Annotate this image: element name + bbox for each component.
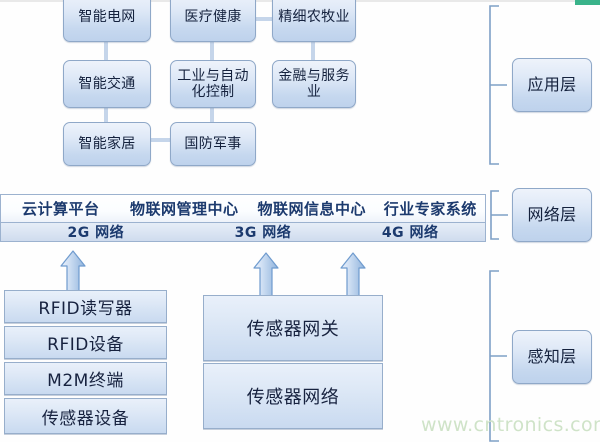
app-box-smart-grid-label: 智能电网	[66, 9, 148, 25]
perception-box-sensor-device-label: 传感器设备	[42, 404, 130, 429]
app-box-smart-home-label: 智能家居	[66, 136, 148, 152]
app-box-medical-health[interactable]: 医疗健康	[170, 0, 256, 42]
uplink-arrow-right	[340, 252, 366, 300]
layer-label-perception[interactable]: 感知层	[512, 330, 592, 384]
layer-label-application[interactable]: 应用层	[512, 58, 592, 112]
perception-box-m2m-terminal[interactable]: M2M终端	[4, 362, 167, 395]
app-box-industry-automation-label: 工业与自动化控制	[173, 68, 253, 100]
app-box-smart-transport-label: 智能交通	[66, 76, 148, 92]
perception-box-sensor-device[interactable]: 传感器设备	[4, 398, 167, 434]
perception-box-rfid-reader-label: RFID读写器	[38, 294, 132, 319]
bracket-application-layer	[485, 5, 509, 165]
app-box-finance-service-label: 金融与服务业	[275, 68, 353, 100]
app-box-medical-health-label: 医疗健康	[173, 9, 253, 25]
green-accent-bar	[575, 0, 600, 5]
perception-box-sensor-network[interactable]: 传感器网络	[203, 363, 383, 429]
app-box-precision-agriculture-label: 精细农牧业	[275, 9, 353, 25]
network-platform-information-center[interactable]: 物联网信息中心	[248, 198, 375, 219]
perception-box-sensor-gateway[interactable]: 传感器网关	[203, 295, 383, 361]
bracket-network-layer	[486, 190, 510, 240]
app-box-smart-home[interactable]: 智能家居	[63, 122, 151, 166]
network-platform-management-center[interactable]: 物联网管理中心	[121, 198, 248, 219]
perception-box-rfid-device[interactable]: RFID设备	[4, 326, 167, 359]
perception-box-sensor-gateway-label: 传感器网关	[247, 315, 340, 341]
app-box-smart-grid[interactable]: 智能电网	[63, 0, 151, 42]
network-3g[interactable]: 3G 网络	[191, 222, 336, 242]
layer-label-network-text: 网络层	[515, 206, 589, 224]
site-watermark: www.cntronics.com	[421, 414, 600, 436]
layer-label-network[interactable]: 网络层	[512, 188, 592, 242]
perception-box-rfid-device-label: RFID设备	[47, 330, 124, 355]
app-box-precision-agriculture[interactable]: 精细农牧业	[272, 0, 356, 42]
iot-architecture-diagram: 智能电网 智能交通 智能家居 医疗健康 工业与自动化控制 国防军事 精细农牧业 …	[0, 0, 600, 442]
app-box-industry-automation[interactable]: 工业与自动化控制	[170, 60, 256, 108]
perception-box-m2m-terminal-label: M2M终端	[47, 366, 124, 391]
perception-box-rfid-reader[interactable]: RFID读写器	[4, 290, 167, 323]
layer-label-application-text: 应用层	[515, 76, 589, 94]
network-2g[interactable]: 2G 网络	[1, 222, 191, 242]
uplink-arrow-middle	[253, 252, 279, 300]
perception-box-sensor-network-label: 传感器网络	[247, 383, 340, 409]
network-platform-band: 云计算平台 物联网管理中心 物联网信息中心 行业专家系统	[0, 194, 486, 222]
app-box-smart-transport[interactable]: 智能交通	[63, 60, 151, 108]
app-box-defense-military-label: 国防军事	[173, 136, 253, 152]
app-box-defense-military[interactable]: 国防军事	[170, 122, 256, 166]
network-platform-cloud[interactable]: 云计算平台	[1, 198, 121, 219]
network-platform-expert-system[interactable]: 行业专家系统	[375, 198, 485, 219]
layer-label-perception-text: 感知层	[515, 348, 589, 366]
app-box-finance-service[interactable]: 金融与服务业	[272, 60, 356, 108]
network-4g[interactable]: 4G 网络	[335, 222, 485, 242]
network-generation-band: 2G 网络 3G 网络 4G 网络	[0, 222, 486, 242]
